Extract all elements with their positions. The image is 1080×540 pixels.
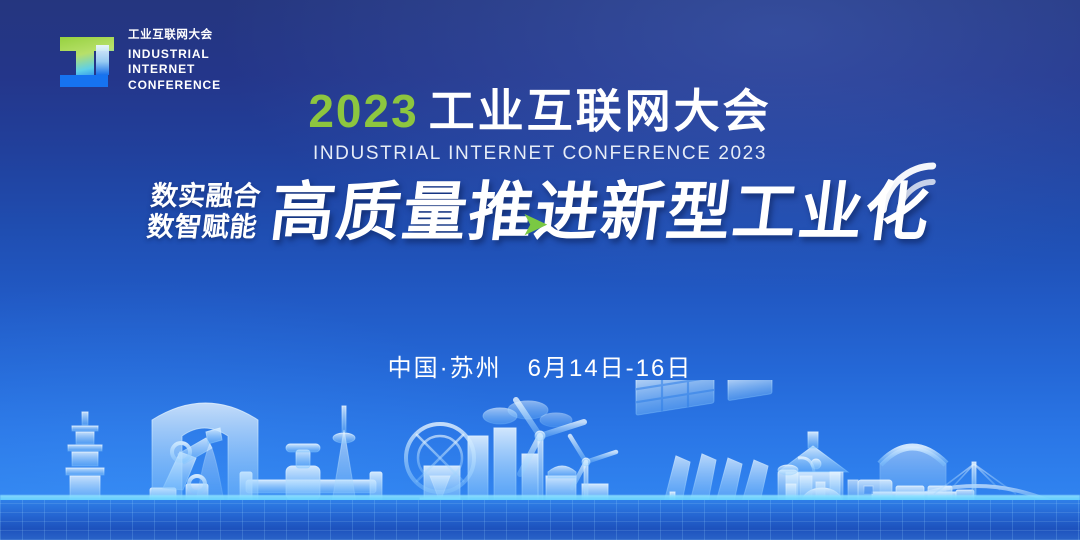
- truck-icon: [548, 466, 576, 478]
- slogan-primary-text: 高质量推进新型工业化: [267, 176, 936, 248]
- event-location: 中国·苏州: [388, 355, 502, 382]
- event-datetime: 中国·苏州6月14日-16日: [0, 348, 1080, 383]
- logo-wordmark: 工业互联网大会 INDUSTRIAL INTERNET CONFERENCE: [128, 30, 221, 94]
- conference-logo: 工业互联网大会 INDUSTRIAL INTERNET CONFERENCE: [56, 30, 221, 94]
- slogan-secondary: 数实融合 数智赋能: [145, 182, 262, 241]
- event-dates: 6月14日-16日: [528, 355, 693, 382]
- water-surface: [0, 500, 1080, 540]
- water-grid-overlay: [0, 500, 1080, 540]
- slogan-left-line-2: 数智赋能: [145, 214, 258, 242]
- pagoda-icon: [66, 412, 104, 502]
- logo-chinese-name: 工业互联网大会: [128, 30, 221, 42]
- conference-t-logo-icon: [56, 31, 118, 93]
- logo-en-line-2: INTERNET: [128, 62, 195, 76]
- slogan-primary: 高质量推进新型工业化 ➤: [267, 180, 935, 244]
- main-title: 2023工业互联网大会: [0, 88, 1080, 134]
- title-block: 2023工业互联网大会 INDUSTRIAL INTERNET CONFEREN…: [0, 88, 1080, 165]
- green-arrow-icon: ➤: [522, 210, 549, 240]
- city-skyline: [0, 380, 1080, 540]
- slogan-block: 数实融合 数智赋能 高质量推进新型工业化 ➤: [149, 180, 931, 244]
- pipe-valve-icon: [240, 444, 382, 502]
- slogan-left-line-1: 数实融合: [149, 182, 262, 210]
- tv-tower-icon: [332, 406, 356, 502]
- conference-banner: 工业互联网大会 INDUSTRIAL INTERNET CONFERENCE 2…: [0, 0, 1080, 540]
- title-chinese: 工业互联网大会: [429, 85, 772, 137]
- signal-arc-icon: [875, 158, 944, 214]
- logo-en-line-1: INDUSTRIAL: [128, 47, 210, 61]
- ferris-wheel-icon: [406, 424, 474, 503]
- logo-english-name: INDUSTRIAL INTERNET CONFERENCE: [128, 47, 221, 94]
- title-year: 2023: [308, 85, 418, 137]
